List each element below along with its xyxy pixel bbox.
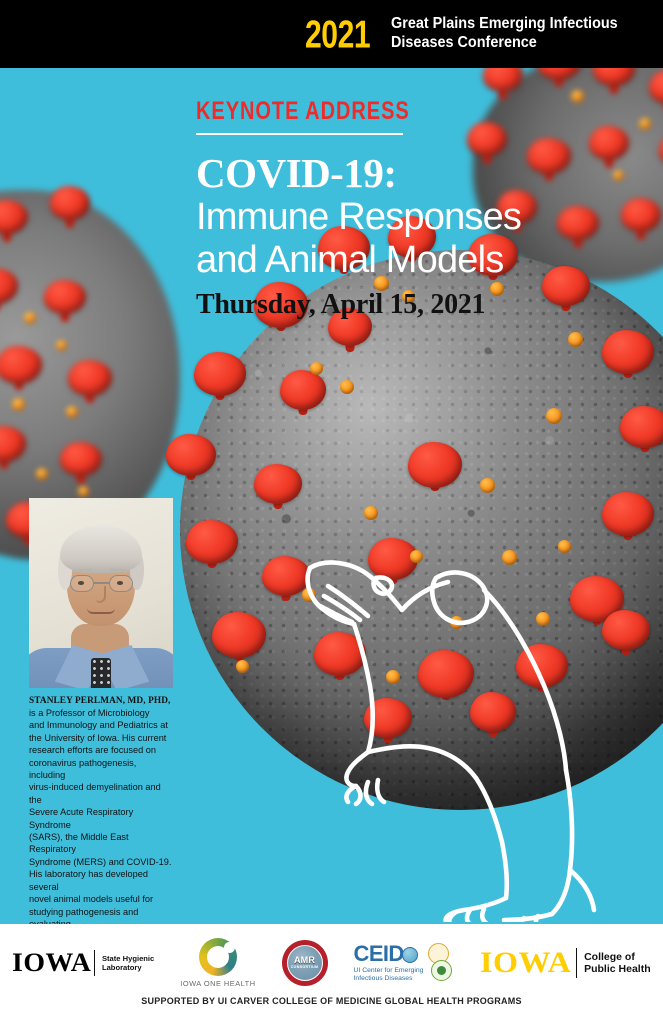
speaker-portrait bbox=[29, 498, 173, 688]
ceid-wordmark-row: CEID bbox=[354, 943, 424, 966]
globe-icon bbox=[402, 947, 418, 963]
keynote-block: KEYNOTE ADDRESS COVID-19: Immune Respons… bbox=[196, 98, 616, 321]
keynote-date: Thursday, April 15, 2021 bbox=[196, 289, 616, 321]
logo-divider bbox=[576, 948, 577, 978]
logo-ceid: CEID UI Center for Emerging Infectious D… bbox=[354, 943, 455, 984]
eyeglasses-right-lens bbox=[109, 575, 133, 592]
keynote-title-line1: COVID-19: bbox=[196, 151, 616, 196]
conference-name: Great Plains Emerging Infectious Disease… bbox=[391, 13, 618, 52]
keynote-kicker: KEYNOTE ADDRESS bbox=[196, 98, 532, 124]
mouse-line-drawing-icon bbox=[298, 552, 598, 922]
keynote-title-line2: Immune Responses and Animal Models bbox=[196, 196, 616, 282]
conference-year: 2021 bbox=[305, 13, 370, 58]
poster-header: 2021 Great Plains Emerging Infectious Di… bbox=[0, 0, 663, 68]
ceid-subtitle: UI Center for Emerging Infectious Diseas… bbox=[354, 967, 424, 984]
logo-iowa-college-of-public-health: IOWA College of Public Health bbox=[480, 948, 650, 978]
ceid-wordmark: CEID bbox=[354, 941, 404, 966]
logo-subtitle: College of Public Health bbox=[584, 951, 651, 976]
necktie bbox=[91, 658, 111, 688]
logo-amr-consortium: AMR CONSORTIUM bbox=[282, 940, 328, 986]
logo-iowa-one-health: IOWA ONE HEALTH bbox=[180, 938, 255, 988]
speaker-bio: is a Professor of Microbiology and Immun… bbox=[29, 707, 173, 955]
virus-icon bbox=[431, 960, 452, 981]
poster-footer: IOWA State Hygienic Laboratory IOWA ONE … bbox=[0, 924, 663, 1024]
logo-subtitle: State Hygienic Laboratory bbox=[102, 954, 154, 973]
conference-poster: 2021 Great Plains Emerging Infectious Di… bbox=[0, 0, 663, 1024]
iowa-gold-wordmark: IOWA bbox=[480, 950, 571, 976]
eyeglasses-left-lens bbox=[70, 575, 94, 592]
speaker-block: STANLEY PERLMAN, MD, PHD, is a Professor… bbox=[29, 498, 173, 955]
amr-subtitle: CONSORTIUM bbox=[291, 965, 319, 970]
iowa-wordmark: IOWA bbox=[12, 950, 91, 976]
amr-wordmark: AMR bbox=[291, 956, 319, 965]
ceid-side-icons bbox=[424, 943, 454, 983]
logo-divider bbox=[94, 950, 95, 976]
logo-iowa-state-hygienic-laboratory: IOWA State Hygienic Laboratory bbox=[12, 950, 154, 976]
sponsor-logos: IOWA State Hygienic Laboratory IOWA ONE … bbox=[0, 932, 663, 994]
logo-wordmark: IOWA ONE HEALTH bbox=[180, 979, 255, 988]
keynote-divider bbox=[196, 133, 403, 135]
one-health-ring-icon bbox=[199, 938, 237, 976]
speaker-name: STANLEY PERLMAN, MD, PHD, bbox=[29, 695, 173, 707]
supported-by-text: SUPPORTED BY UI CARVER COLLEGE OF MEDICI… bbox=[0, 996, 663, 1006]
